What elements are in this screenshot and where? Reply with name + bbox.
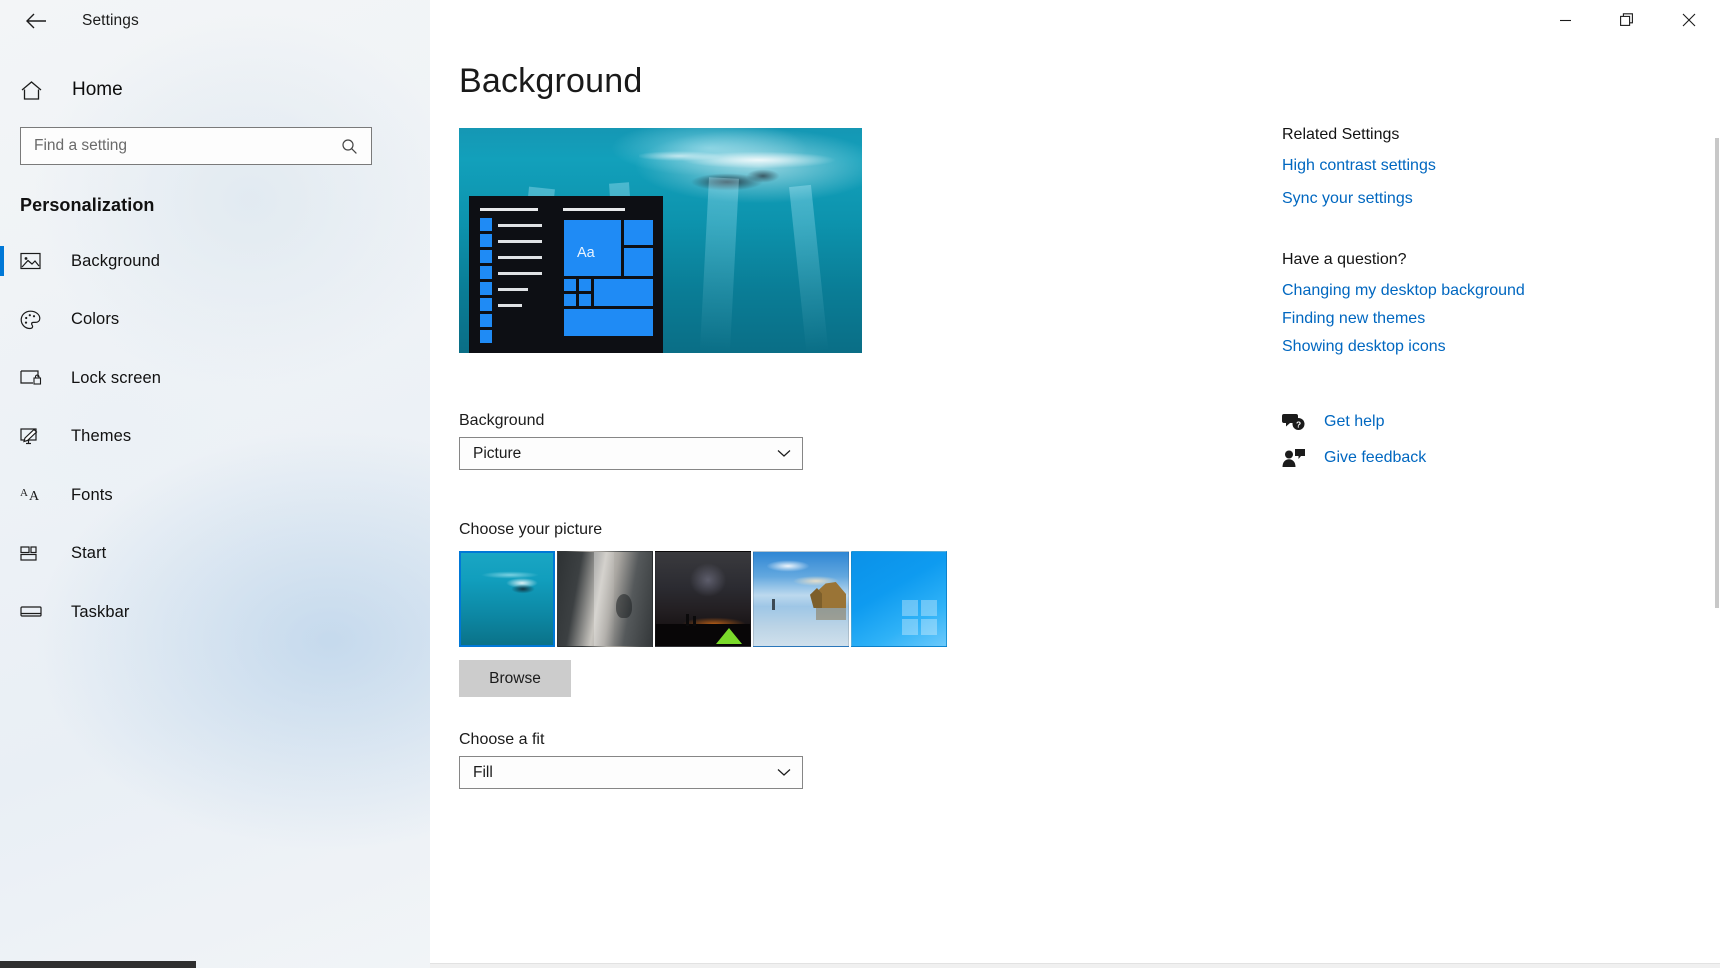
background-type-dropdown[interactable]: Picture <box>459 437 803 470</box>
chevron-down-icon <box>777 757 791 788</box>
picture-thumbnail-list <box>459 551 947 647</box>
choose-fit-label: Choose a fit <box>459 731 544 749</box>
window-titlebar-left: Settings <box>0 0 430 42</box>
give-feedback-label: Give feedback <box>1324 449 1426 467</box>
link-changing-my-desktop-background[interactable]: Changing my desktop background <box>1282 282 1525 300</box>
link-showing-desktop-icons[interactable]: Showing desktop icons <box>1282 338 1446 356</box>
thumbnail-windows-blue-logo[interactable] <box>851 551 947 647</box>
choose-fit-value: Fill <box>460 764 493 782</box>
close-button[interactable] <box>1658 0 1720 40</box>
thumb-detail <box>686 614 689 626</box>
get-help-button[interactable]: ? Get help <box>1282 412 1384 432</box>
image-icon <box>20 252 52 270</box>
sidebar-item-lock-screen[interactable]: Lock screen <box>0 349 430 408</box>
lock-screen-icon <box>20 369 52 387</box>
minimize-icon <box>1559 14 1572 27</box>
thumb-detail <box>616 594 632 618</box>
preview-start-list-lines <box>498 224 542 320</box>
thumb-detail <box>594 552 614 647</box>
preview-start-tile-strip <box>480 218 492 346</box>
thumb-detail <box>470 570 550 580</box>
search-box[interactable] <box>20 127 372 165</box>
preview-start-menu: Aa <box>469 196 663 353</box>
feedback-person-icon <box>1282 448 1316 468</box>
sidebar-item-label: Fonts <box>71 486 113 505</box>
minimize-button[interactable] <box>1534 0 1596 40</box>
sidebar-item-start[interactable]: Start <box>0 525 430 584</box>
windows-logo-icon <box>902 600 938 636</box>
scrollbar-thumb[interactable] <box>1715 138 1719 608</box>
thumbnail-beach-sea-stack[interactable] <box>753 551 849 647</box>
sidebar-item-colors[interactable]: Colors <box>0 291 430 350</box>
thumb-detail <box>680 556 734 604</box>
preview-start-rule <box>563 208 625 211</box>
rail-spacer <box>1282 366 1612 412</box>
sidebar-nav: Background Colors <box>0 232 430 642</box>
preview-tile-text: Aa <box>577 245 595 261</box>
sidebar-home-label: Home <box>72 79 123 101</box>
sidebar-scroll-indicator[interactable] <box>0 961 196 968</box>
thumbnail-night-sky-tent[interactable] <box>655 551 751 647</box>
sidebar-item-label: Taskbar <box>71 603 129 622</box>
palette-icon <box>20 310 52 330</box>
start-icon <box>20 545 52 562</box>
link-sync-your-settings[interactable]: Sync your settings <box>1282 190 1413 208</box>
browse-button[interactable]: Browse <box>459 660 571 697</box>
taskbar-icon <box>20 605 52 619</box>
related-settings-title: Related Settings <box>1282 126 1612 144</box>
main-scrollbar[interactable] <box>1714 42 1720 922</box>
thumb-detail <box>758 558 818 574</box>
svg-text:?: ? <box>1296 419 1301 429</box>
choose-picture-label: Choose your picture <box>459 521 602 539</box>
thumb-detail <box>772 599 775 610</box>
sidebar-item-label: Start <box>71 544 106 563</box>
sidebar: Settings Home Personalization <box>0 0 430 968</box>
home-icon <box>20 80 54 101</box>
back-button[interactable] <box>14 4 58 38</box>
settings-window: Settings Home Personalization <box>0 0 1720 968</box>
window-title: Settings <box>82 12 139 30</box>
sidebar-item-label: Lock screen <box>71 369 161 388</box>
get-help-label: Get help <box>1324 413 1384 431</box>
sidebar-item-taskbar[interactable]: Taskbar <box>0 583 430 642</box>
thumbnail-rock-face-monochrome[interactable] <box>557 551 653 647</box>
sidebar-item-fonts[interactable]: A A Fonts <box>0 466 430 525</box>
window-controls <box>1534 0 1720 42</box>
have-a-question-title: Have a question? <box>1282 251 1612 269</box>
svg-text:A: A <box>20 487 28 499</box>
chevron-down-icon <box>777 438 791 469</box>
related-settings-rail: Related Settings High contrast settings … <box>1282 126 1612 484</box>
search-icon[interactable] <box>335 128 363 164</box>
choose-fit-dropdown[interactable]: Fill <box>459 756 803 789</box>
thumb-detail <box>506 582 540 596</box>
sidebar-item-label: Background <box>71 252 160 271</box>
thumb-detail <box>693 616 696 626</box>
svg-text:A: A <box>29 489 40 504</box>
sidebar-item-home[interactable]: Home <box>0 67 430 113</box>
window-bottom-edge <box>430 963 1720 968</box>
question-links: Changing my desktop background Finding n… <box>1282 282 1612 356</box>
preview-tile-grid: Aa <box>563 219 655 337</box>
restore-icon <box>1620 13 1634 27</box>
sidebar-item-label: Themes <box>71 427 131 446</box>
background-field-label: Background <box>459 412 544 430</box>
restore-button[interactable] <box>1596 0 1658 40</box>
page-title: Background <box>459 62 642 101</box>
link-high-contrast-settings[interactable]: High contrast settings <box>1282 157 1436 175</box>
preview-start-tiles: Aa <box>563 208 655 337</box>
thumbnail-underwater-diver[interactable] <box>459 551 555 647</box>
background-preview: Aa <box>459 128 862 353</box>
selection-indicator <box>0 246 4 276</box>
main-content: Background <box>430 0 1720 968</box>
preview-start-rule <box>480 208 538 211</box>
back-arrow-icon <box>25 12 47 30</box>
sidebar-item-background[interactable]: Background <box>0 232 430 291</box>
link-finding-new-themes[interactable]: Finding new themes <box>1282 310 1425 328</box>
fonts-icon: A A <box>20 486 52 504</box>
themes-icon <box>20 427 52 447</box>
category-title: Personalization <box>20 195 430 216</box>
thumb-detail <box>816 608 846 620</box>
close-icon <box>1682 13 1696 27</box>
sidebar-item-label: Colors <box>71 310 119 329</box>
background-type-value: Picture <box>460 445 521 463</box>
search-input[interactable] <box>21 128 321 164</box>
rail-spacer <box>1282 208 1612 251</box>
sidebar-item-themes[interactable]: Themes <box>0 408 430 467</box>
help-bubble-icon: ? <box>1282 412 1316 432</box>
give-feedback-button[interactable]: Give feedback <box>1282 448 1426 468</box>
